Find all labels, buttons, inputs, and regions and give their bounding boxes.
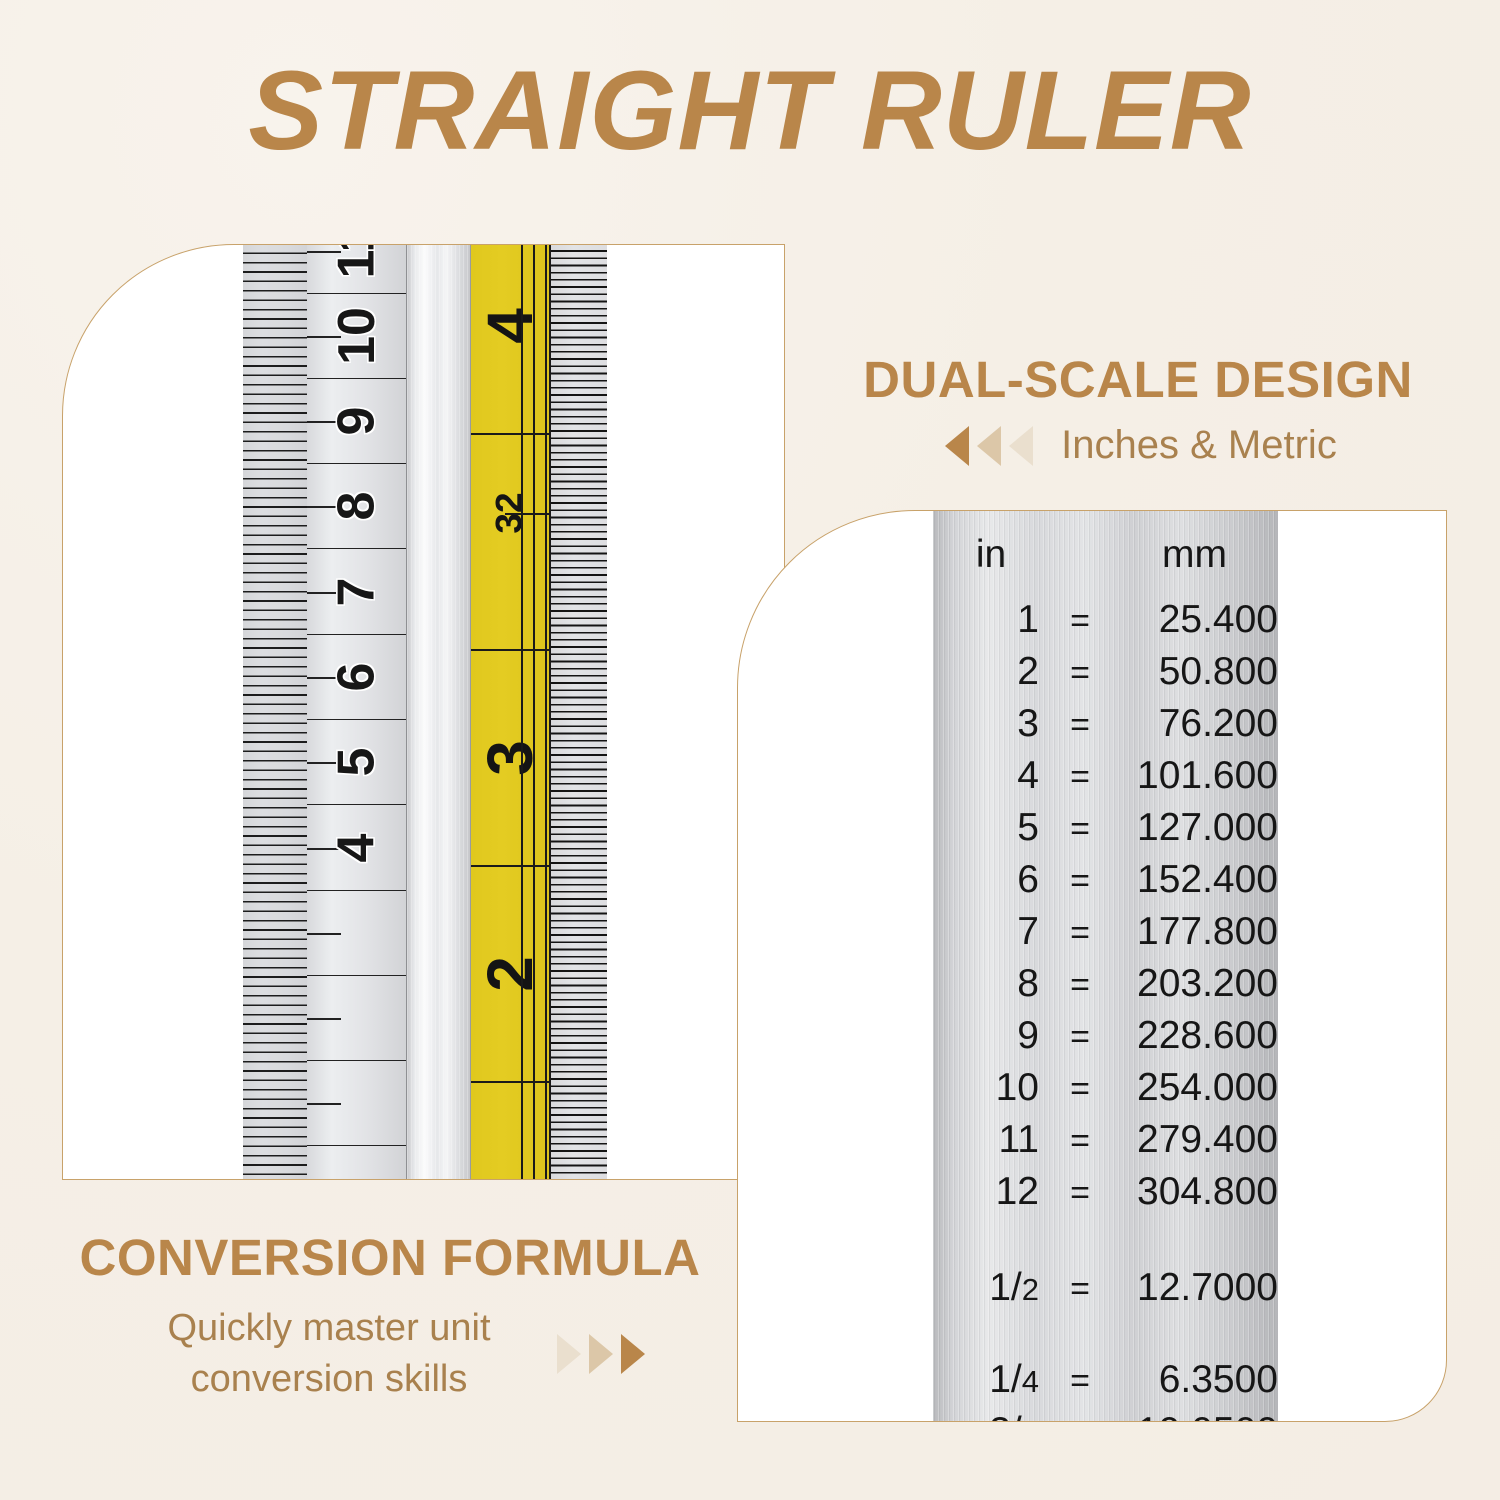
chevron-left-icon-group	[939, 424, 1035, 468]
cell-mm: 101.600	[1111, 756, 1278, 795]
cell-equals: =	[1049, 1072, 1111, 1106]
table-row: 12=304.800	[933, 1165, 1278, 1217]
feature-conversion-heading: CONVERSION FORMULA	[40, 1228, 740, 1287]
cell-in: 3	[933, 704, 1049, 743]
ruler-inch-band: 4 32 3 2	[471, 244, 549, 1180]
cell-in: 5	[933, 808, 1049, 847]
table-header-row: in mm	[933, 533, 1278, 593]
inch-label: 2	[473, 956, 547, 992]
table-row-fraction: 1/4 = 6.3500	[933, 1353, 1278, 1405]
metric-label: 9	[326, 407, 386, 436]
table-row: 7=177.800	[933, 905, 1278, 957]
cell-mm: 304.800	[1111, 1172, 1278, 1211]
cell-fraction: 3/4	[933, 1412, 1049, 1423]
fraction-fine-ticks	[549, 244, 607, 1180]
feature-dual-scale-subtitle: Inches & Metric	[1061, 423, 1337, 468]
cell-mm: 127.000	[1111, 808, 1278, 847]
cell-equals: =	[1049, 1272, 1111, 1306]
cell-equals: =	[1049, 1416, 1111, 1423]
metric-label: 8	[326, 492, 386, 521]
cell-in: 4	[933, 756, 1049, 795]
metric-label: 11	[326, 244, 386, 279]
conversion-table-panel: in mm 1=25.400 2=50.800 3=76.200 4=101.6…	[737, 510, 1447, 1422]
cell-in: 12	[933, 1172, 1049, 1211]
table-row: 6=152.400	[933, 853, 1278, 905]
ruler-image: 11 10 9 8 7 6 5 4 4 32 3	[243, 244, 607, 1180]
metric-label: 4	[326, 834, 386, 863]
cell-equals: =	[1049, 604, 1111, 638]
cell-equals: =	[1049, 1020, 1111, 1054]
cell-equals: =	[1049, 812, 1111, 846]
page-title: STRAIGHT RULER	[0, 52, 1500, 170]
ruler-photo-panel: 11 10 9 8 7 6 5 4 4 32 3	[62, 244, 785, 1180]
cell-in: 6	[933, 860, 1049, 899]
fraction-numerator: 1	[989, 1358, 1011, 1401]
column-header-mm: mm	[1111, 533, 1278, 577]
metric-label: 5	[326, 748, 386, 777]
cell-equals: =	[1049, 864, 1111, 898]
table-row: 4=101.600	[933, 749, 1278, 801]
feature-dual-scale: DUAL-SCALE DESIGN Inches & Metric	[818, 350, 1458, 468]
metric-fine-ticks	[243, 244, 307, 1180]
cell-mm: 12.7000	[1111, 1268, 1278, 1307]
cell-mm: 203.200	[1111, 964, 1278, 1003]
table-row: 2=50.800	[933, 645, 1278, 697]
cell-mm: 279.400	[1111, 1120, 1278, 1159]
cell-fraction: 1/4	[933, 1360, 1049, 1399]
cell-mm: 152.400	[1111, 860, 1278, 899]
brushed-metal-strip: in mm 1=25.400 2=50.800 3=76.200 4=101.6…	[933, 511, 1278, 1422]
table-row: 11=279.400	[933, 1113, 1278, 1165]
feature-dual-scale-heading: DUAL-SCALE DESIGN	[818, 350, 1458, 409]
cell-equals: =	[1049, 1124, 1111, 1158]
feature-conversion-subtitle: Quickly master unit conversion skills	[129, 1303, 529, 1406]
conversion-table: in mm 1=25.400 2=50.800 3=76.200 4=101.6…	[933, 511, 1278, 1422]
cell-in: 1	[933, 600, 1049, 639]
cell-mm: 50.800	[1111, 652, 1278, 691]
cell-equals: =	[1049, 1364, 1111, 1398]
cell-equals: =	[1049, 916, 1111, 950]
cell-mm: 254.000	[1111, 1068, 1278, 1107]
fraction-denominator: 4	[1022, 1364, 1039, 1399]
table-row: 8=203.200	[933, 957, 1278, 1009]
feature-conversion-formula: CONVERSION FORMULA Quickly master unit c…	[40, 1228, 740, 1406]
table-row: 5=127.000	[933, 801, 1278, 853]
fraction-numerator: 1	[989, 1266, 1011, 1309]
cell-in: 11	[933, 1120, 1049, 1159]
fraction-numerator: 3	[989, 1410, 1011, 1423]
metric-label: 6	[326, 663, 386, 692]
metric-scale-numbers: 11 10 9 8 7 6 5 4	[307, 244, 407, 1180]
cell-in: 2	[933, 652, 1049, 691]
cell-mm: 6.3500	[1111, 1360, 1278, 1399]
cell-in: 7	[933, 912, 1049, 951]
cell-mm: 177.800	[1111, 912, 1278, 951]
table-row: 9=228.600	[933, 1009, 1278, 1061]
fraction-denominator: 2	[1022, 1272, 1039, 1307]
cell-equals: =	[1049, 760, 1111, 794]
cell-in: 9	[933, 1016, 1049, 1055]
cell-equals: =	[1049, 656, 1111, 690]
cell-mm: 19.0500	[1111, 1412, 1278, 1423]
cell-in: 8	[933, 964, 1049, 1003]
cell-fraction: 1/2	[933, 1268, 1049, 1307]
cell-equals: =	[1049, 968, 1111, 1002]
cell-mm: 76.200	[1111, 704, 1278, 743]
column-header-in: in	[933, 533, 1049, 577]
table-row: 10=254.000	[933, 1061, 1278, 1113]
table-row-fraction: 3/4 = 19.0500	[933, 1405, 1278, 1422]
cell-equals: =	[1049, 1176, 1111, 1210]
table-row: 3=76.200	[933, 697, 1278, 749]
table-row: 1=25.400	[933, 593, 1278, 645]
chevron-right-icon-group	[555, 1332, 651, 1376]
cell-in: 10	[933, 1068, 1049, 1107]
cell-mm: 25.400	[1111, 600, 1278, 639]
inch-label: 3	[473, 740, 547, 776]
cell-equals: =	[1049, 708, 1111, 742]
table-row-fraction: 1/2 = 12.7000	[933, 1261, 1278, 1313]
metric-label: 7	[326, 578, 386, 607]
metric-label: 10	[327, 307, 387, 365]
fraction-denominator: 4	[1022, 1416, 1039, 1423]
cell-mm: 228.600	[1111, 1016, 1278, 1055]
ruler-silver-band	[407, 244, 471, 1180]
inch-label: 4	[473, 308, 547, 344]
